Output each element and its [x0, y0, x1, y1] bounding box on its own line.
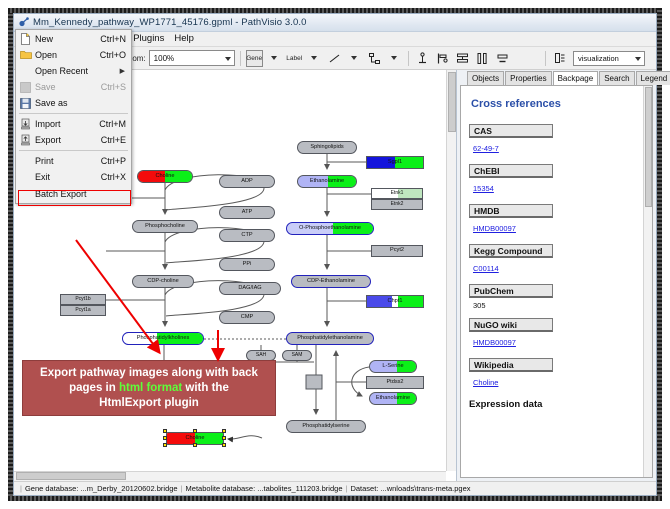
status-dataset-value: ...wnloads\trans-meta.pgex: [380, 484, 470, 493]
canvas-scrollbar-vertical[interactable]: [446, 70, 456, 471]
menu-item-new[interactable]: New Ctrl+N: [16, 31, 131, 47]
frame-bottom-edge: [8, 496, 662, 501]
pathvisio-icon: [18, 17, 29, 28]
xref-label-nugo-wiki: NuGO wiki: [469, 318, 553, 332]
align-vertical-icon[interactable]: [454, 50, 471, 67]
menu-item-save-as[interactable]: Save as: [16, 95, 131, 111]
tab-legend[interactable]: Legend: [636, 71, 670, 85]
node-pcyt1b[interactable]: Pcyt1b: [60, 294, 106, 305]
node-ethanolamine-bottom[interactable]: Ethanolamine: [369, 392, 417, 405]
node-label: Chpt1: [388, 299, 403, 305]
connector-icon[interactable]: [366, 50, 383, 67]
import-icon: [18, 118, 33, 131]
align-left-icon[interactable]: [434, 50, 451, 67]
canvas-scrollbar-horizontal[interactable]: [14, 471, 446, 481]
node-label: CMP: [241, 315, 253, 321]
menu-separator-2: [19, 150, 128, 151]
screenshot-root: Mm_Kennedy_pathway_WP1771_45176.gpml - P…: [0, 0, 670, 509]
tab-properties[interactable]: Properties: [505, 71, 551, 85]
open-folder-icon: [18, 49, 33, 62]
gene-dropdown-chevron-down-icon[interactable]: [266, 50, 283, 67]
xref-label-hmdb: HMDB: [469, 204, 553, 218]
node-ctp[interactable]: CTP: [219, 229, 275, 242]
node-label: Ethanolamine: [310, 179, 344, 185]
menu-item-print[interactable]: Print Ctrl+P: [16, 153, 131, 169]
zoom-value: 100%: [154, 54, 174, 63]
node-dag-ag[interactable]: DAG/IAG: [219, 282, 281, 295]
xref-label-wikipedia: Wikipedia: [469, 358, 553, 372]
tab-backpage[interactable]: Backpage: [553, 71, 599, 86]
node-ptdss2[interactable]: Ptdss2: [366, 376, 424, 389]
toolbar-separator: [240, 51, 241, 66]
annotation-callout: Export pathway images along with back pa…: [22, 360, 276, 416]
node-chpt1[interactable]: Chpt1: [366, 295, 424, 308]
menu-item-open-recent[interactable]: Open Recent ▶: [16, 63, 131, 79]
node-label: Pcyt2: [390, 248, 404, 254]
node-adp[interactable]: ADP: [219, 175, 275, 188]
node-label: CTP: [241, 233, 252, 239]
toolbar-separator-3: [545, 51, 546, 66]
node-label: CDP-Ethanolamine: [307, 279, 355, 285]
menu-item-open-accel: Ctrl+O: [100, 50, 129, 60]
xref-value-nugo-wiki[interactable]: HMDB00097: [473, 338, 516, 347]
menu-item-exit[interactable]: Exit Ctrl+X: [16, 169, 131, 185]
node-label: Sphingolipids: [310, 145, 343, 151]
menu-item-batch-export-label: Batch Export: [33, 189, 126, 199]
align-horizontal-icon[interactable]: [474, 50, 491, 67]
menu-item-import-label: Import: [33, 119, 99, 129]
window-title: Mm_Kennedy_pathway_WP1771_45176.gpml - P…: [33, 17, 307, 28]
xref-label-chebi: ChEBI: [469, 164, 553, 178]
save-disabled-icon: [18, 81, 33, 94]
node-sphingolipids[interactable]: Sphingolipids: [297, 141, 357, 154]
backpage-scroll-thumb[interactable]: [645, 87, 652, 207]
menu-item-save: Save Ctrl+S: [16, 79, 131, 95]
node-label: Choline: [156, 174, 175, 180]
connector-dropdown-chevron-down-icon[interactable]: [386, 50, 403, 67]
canvas-scroll-thumb-vertical[interactable]: [448, 72, 456, 132]
menu-plugins[interactable]: Plugins: [128, 32, 169, 46]
node-label: Choline: [186, 436, 205, 442]
zoom-combo[interactable]: 100%: [149, 50, 235, 66]
gene-product-icon[interactable]: Gene: [246, 50, 263, 67]
save-as-icon: [18, 97, 33, 110]
annotation-line-2a: pages in: [69, 382, 119, 394]
xref-value-wikipedia[interactable]: Choline: [473, 378, 498, 387]
side-panel: Objects Properties Backpage Search Legen…: [457, 70, 656, 481]
node-phosphatidylcholines[interactable]: Phosphatidylkholines: [122, 332, 204, 345]
visualization-settings-icon[interactable]: [551, 50, 568, 67]
line-dropdown-chevron-down-icon[interactable]: [346, 50, 363, 67]
menu-item-export[interactable]: Export Ctrl+E: [16, 132, 131, 148]
side-panel-tabs: Objects Properties Backpage Search Legen…: [457, 70, 656, 85]
menu-item-export-accel: Ctrl+E: [101, 135, 129, 145]
selection-handle-w[interactable]: [163, 436, 167, 440]
xref-value-cas[interactable]: 62-49-7: [473, 144, 499, 153]
selection-handle-ne[interactable]: [222, 429, 226, 433]
selection-handle-s[interactable]: [193, 443, 197, 447]
node-phosphocholine[interactable]: Phosphocholine: [132, 220, 198, 233]
chevron-down-icon: [225, 54, 231, 63]
xref-label-pubchem: PubChem: [469, 284, 553, 298]
status-gene-database-label: Gene database:: [25, 484, 78, 493]
menu-item-batch-export[interactable]: Batch Export: [16, 186, 131, 202]
node-cdp-ethanolamine[interactable]: CDP-Ethanolamine: [291, 275, 371, 288]
anchor-icon[interactable]: [414, 50, 431, 67]
menu-item-exit-label: Exit: [33, 172, 101, 182]
toolbar-separator-2: [408, 51, 409, 66]
status-bar: | Gene database: ...m_Derby_20120602.bri…: [14, 481, 656, 495]
label-icon[interactable]: Label: [286, 50, 303, 67]
node-label: Sgpl1: [388, 160, 402, 166]
status-gene-database-value: ...m_Derby_20120602.bridge: [80, 484, 177, 493]
node-label: Phosphatidylserine: [302, 424, 349, 430]
node-label: Ptdss2: [386, 380, 403, 386]
menu-item-print-label: Print: [33, 156, 101, 166]
node-label: Phosphatidylkholines: [137, 336, 190, 342]
backpage-panel: Cross references CAS 62-49-7 ChEBI 15354…: [460, 85, 653, 478]
node-label: Phosphatidylethanolamine: [297, 336, 363, 342]
xref-value-chebi[interactable]: 15354: [473, 184, 494, 193]
node-sgpl1[interactable]: Sgpl1: [366, 156, 424, 169]
annotation-line-3: HtmlExport plugin: [40, 396, 258, 411]
gene-button-label: Gene: [246, 55, 262, 62]
node-ppi[interactable]: PPi: [219, 258, 275, 271]
selection-handle-se[interactable]: [222, 443, 226, 447]
node-o-phosphoethanolamine[interactable]: O-Phosphoethanolamine: [286, 222, 374, 235]
menu-item-open[interactable]: Open Ctrl+O: [16, 47, 131, 63]
visualization-combo[interactable]: visualization: [573, 51, 645, 66]
menu-item-open-recent-label: Open Recent: [33, 66, 120, 76]
xref-value-kegg-compound[interactable]: C00114: [473, 264, 499, 273]
selection-handle-e[interactable]: [222, 436, 226, 440]
label-dropdown-chevron-down-icon[interactable]: [306, 50, 323, 67]
node-choline[interactable]: Choline: [137, 170, 193, 183]
menu-separator-1: [19, 113, 128, 114]
status-metabolite-database-value: ...tabolites_111203.bridge: [257, 484, 342, 493]
node-cdp-choline[interactable]: CDP-choline: [132, 275, 194, 288]
annotation-line-1: Export pathway images along with back: [40, 366, 258, 381]
node-cmp[interactable]: CMP: [219, 311, 275, 324]
visualization-value: visualization: [578, 54, 619, 63]
export-icon: [18, 134, 33, 147]
cross-references-heading: Cross references: [471, 98, 640, 110]
selection-handle-sw[interactable]: [163, 443, 167, 447]
submenu-arrow-icon: ▶: [120, 67, 129, 75]
node-label: L-Serine: [382, 364, 403, 370]
backpage-scrollbar[interactable]: [643, 86, 652, 477]
selection-handle-n[interactable]: [193, 429, 197, 433]
file-menu-dropdown[interactable]: New Ctrl+N Open Ctrl+O Open Recent ▶: [15, 29, 132, 204]
label-button-label: Label: [286, 55, 302, 62]
xref-value-pubchem: 305: [473, 301, 640, 310]
line-icon[interactable]: [326, 50, 343, 67]
backpage-content: Cross references CAS 62-49-7 ChEBI 15354…: [469, 92, 640, 477]
node-label: ATP: [242, 210, 252, 216]
node-label: Ethanolamine: [376, 396, 410, 402]
xref-label-kegg-compound: Kegg Compound: [469, 244, 553, 258]
node-label: Phosphocholine: [145, 224, 185, 230]
menu-item-new-label: New: [33, 34, 100, 44]
node-label: CDP-choline: [147, 279, 178, 285]
menu-item-exit-accel: Ctrl+X: [101, 172, 129, 182]
canvas-scroll-thumb-horizontal[interactable]: [16, 472, 126, 480]
node-label: Etnk1: [391, 191, 404, 196]
menu-item-export-label: Export: [33, 135, 101, 145]
menu-item-save-accel: Ctrl+S: [101, 82, 129, 92]
visualization-chevron-down-icon: [635, 54, 641, 63]
tab-objects[interactable]: Objects: [467, 71, 504, 85]
new-file-icon: [18, 33, 33, 46]
selection-handle-nw[interactable]: [163, 429, 167, 433]
node-label: Pcyt1a: [75, 308, 90, 313]
xref-label-cas: CAS: [469, 124, 553, 138]
node-phosphatidylserine[interactable]: Phosphatidylserine: [286, 420, 366, 433]
node-atp[interactable]: ATP: [219, 206, 275, 219]
status-metabolite-database-label: Metabolite database:: [186, 484, 256, 493]
node-phosphatidylethanolamine[interactable]: Phosphatidylethanolamine: [286, 332, 374, 345]
node-label: Etnk2: [391, 202, 404, 207]
node-label: DAG/IAG: [238, 286, 261, 292]
annotation-line-2b: with the: [182, 382, 229, 394]
node-pcyt2[interactable]: Pcyt2: [371, 245, 423, 257]
annotation-highlight: html format: [119, 382, 182, 394]
node-etnk2[interactable]: Etnk2: [371, 199, 423, 210]
node-label: PPi: [243, 262, 252, 268]
node-pcyt1a[interactable]: Pcyt1a: [60, 305, 106, 316]
node-etnk1[interactable]: Etnk1: [371, 188, 423, 199]
node-ethanolamine-top[interactable]: Ethanolamine: [297, 175, 357, 188]
node-sam[interactable]: SAM: [282, 350, 312, 361]
menu-item-save-as-label: Save as: [33, 98, 126, 108]
menu-item-import-accel: Ctrl+M: [99, 119, 129, 129]
status-dataset-label: Dataset:: [350, 484, 378, 493]
node-label: ADP: [241, 179, 253, 185]
node-label: SAM: [292, 353, 303, 358]
tab-search[interactable]: Search: [599, 71, 634, 85]
menu-item-import[interactable]: Import Ctrl+M: [16, 116, 131, 132]
menu-item-open-label: Open: [33, 50, 100, 60]
menu-help[interactable]: Help: [169, 32, 199, 46]
node-label: O-Phosphoethanolamine: [299, 226, 361, 232]
menu-item-save-label: Save: [33, 82, 101, 92]
pathvisio-window: Mm_Kennedy_pathway_WP1771_45176.gpml - P…: [13, 13, 657, 496]
stack-icon[interactable]: [494, 50, 511, 67]
menu-item-new-accel: Ctrl+N: [100, 34, 129, 44]
node-l-serine[interactable]: L-Serine: [369, 360, 417, 373]
xref-value-hmdb[interactable]: HMDB00097: [473, 224, 516, 233]
node-label: SAH: [256, 353, 266, 358]
node-label: Pcyt1b: [75, 297, 90, 302]
expression-data-heading: Expression data: [469, 399, 640, 410]
menu-item-print-accel: Ctrl+P: [101, 156, 129, 166]
